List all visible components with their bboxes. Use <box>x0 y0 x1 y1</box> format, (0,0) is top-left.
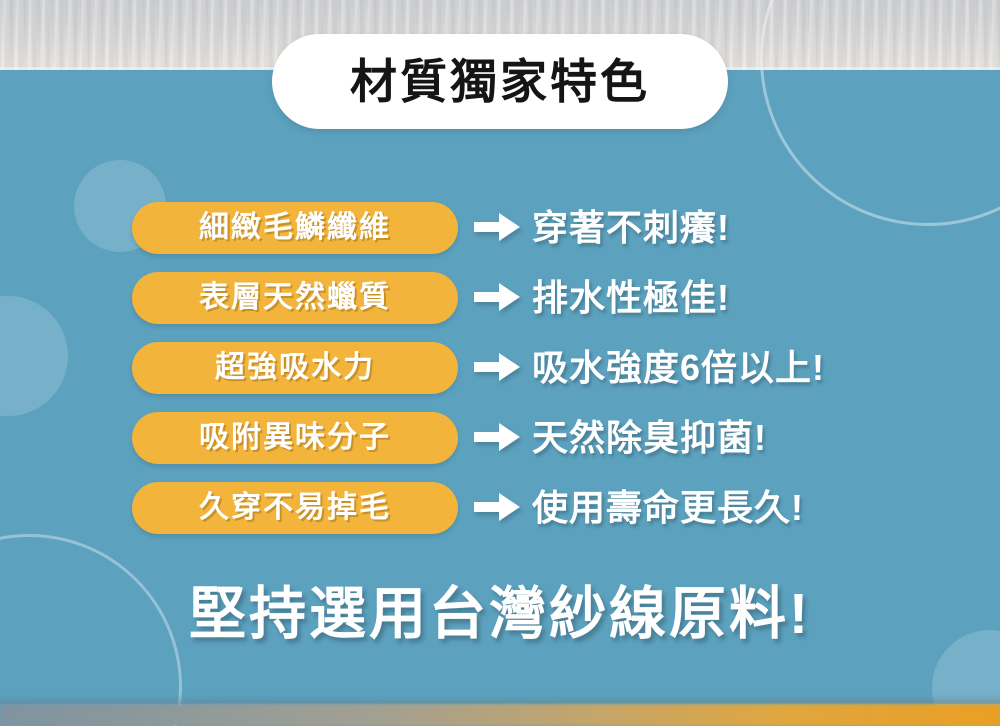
feature-row: 細緻毛鱗纖維 穿著不刺癢! <box>0 200 1000 256</box>
feature-tag-pill: 細緻毛鱗纖維 <box>132 202 458 254</box>
feature-tag-pill: 超強吸水力 <box>132 342 458 394</box>
feature-tag-pill: 表層天然蠟質 <box>132 272 458 324</box>
feature-benefit-label: 排水性極佳! <box>532 280 730 316</box>
page-title: 材質獨家特色 <box>350 58 650 105</box>
feature-benefit-label: 天然除臭抑菌! <box>532 420 767 456</box>
feature-row: 久穿不易掉毛 使用壽命更長久! <box>0 480 1000 536</box>
feature-tag-label: 超強吸水力 <box>215 353 375 383</box>
feature-tag-pill: 吸附異味分子 <box>132 412 458 464</box>
header-pill: 材質獨家特色 <box>272 34 728 129</box>
right-arrow-icon <box>474 423 520 451</box>
feature-benefit-label: 使用壽命更長久! <box>532 490 804 526</box>
feature-tag-label: 細緻毛鱗纖維 <box>199 213 391 243</box>
feature-tag-label: 久穿不易掉毛 <box>199 493 391 523</box>
material-features-poster: 材質獨家特色 細緻毛鱗纖維 穿著不刺癢! 表層天然蠟質 排水性 <box>0 0 1000 726</box>
feature-row: 吸附異味分子 天然除臭抑菌! <box>0 410 1000 466</box>
feature-row: 表層天然蠟質 排水性極佳! <box>0 270 1000 326</box>
feature-benefit-label: 吸水強度6倍以上! <box>532 350 825 386</box>
right-arrow-icon <box>474 283 520 311</box>
right-arrow-icon <box>474 213 520 241</box>
feature-tag-pill: 久穿不易掉毛 <box>132 482 458 534</box>
feature-list: 細緻毛鱗纖維 穿著不刺癢! 表層天然蠟質 排水性極佳! 超強吸水力 <box>0 200 1000 550</box>
footer-tagline-label: 堅持選用台灣紗線原料! <box>189 586 811 643</box>
feature-tag-label: 表層天然蠟質 <box>199 283 391 313</box>
right-arrow-icon <box>474 353 520 381</box>
feature-row: 超強吸水力 吸水強度6倍以上! <box>0 340 1000 396</box>
footer-tagline: 堅持選用台灣紗線原料! <box>0 586 1000 643</box>
bottom-color-strip <box>0 704 1000 726</box>
feature-tag-label: 吸附異味分子 <box>199 423 391 453</box>
bottom-strip-shade <box>0 694 1000 704</box>
feature-benefit-label: 穿著不刺癢! <box>532 210 730 246</box>
right-arrow-icon <box>474 493 520 521</box>
